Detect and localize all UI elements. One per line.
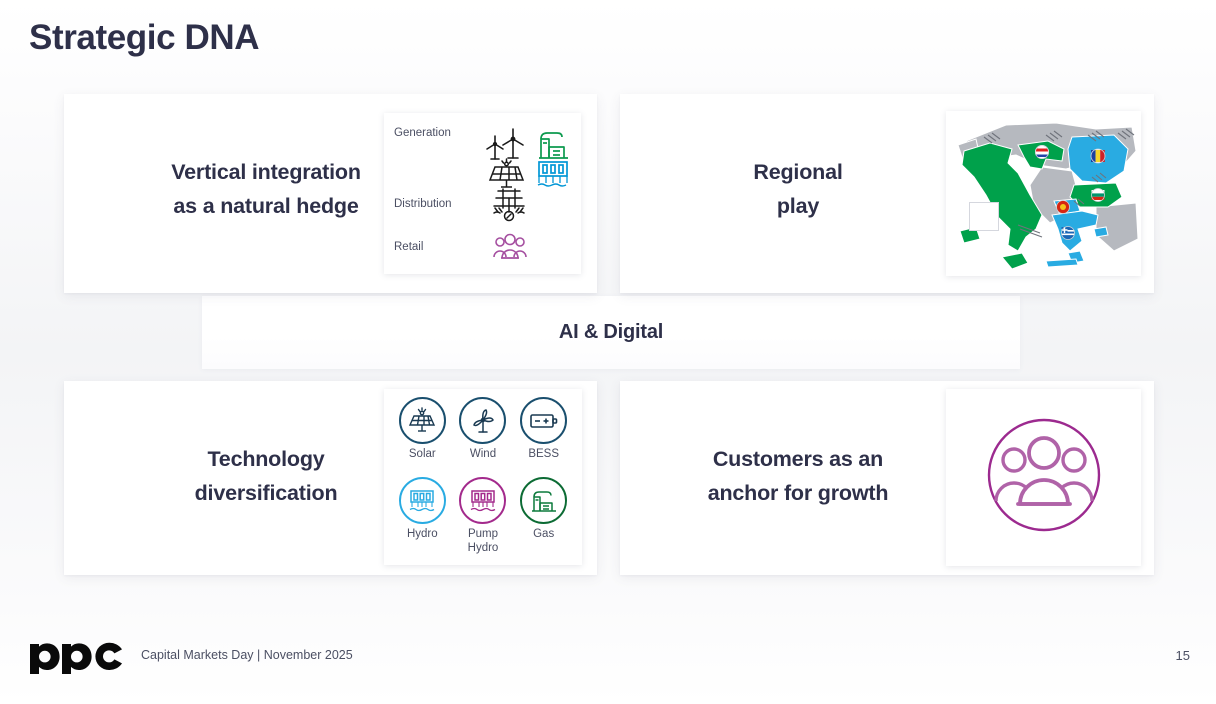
row-generation: Generation [394,127,572,139]
southeast-europe-map [946,111,1141,276]
ppc-logo [28,636,124,679]
row-retail-label: Retail [394,241,423,253]
customers-group-icon [492,233,528,266]
headline-line-2: anchor for growth [708,481,889,505]
vertical-integration-icon-panel: Generation [384,113,581,274]
tech-item-solar-label: Solar [409,447,436,461]
label-line-1: Pump [468,528,498,540]
pump-hydro-icon [459,477,506,524]
card-customers-anchor[interactable]: Customers as an anchor for growth [620,381,1154,575]
tech-item-pump-hydro-label: Pump Hydro [468,527,499,556]
hydro-dam-icon [399,477,446,524]
headline-line-1: Regional [753,160,842,184]
tech-item-pump-hydro[interactable]: Pump Hydro [453,477,514,557]
card-customers-anchor-headline: Customers as an anchor for growth [648,443,948,511]
tech-item-gas[interactable]: Gas [513,477,574,557]
battery-icon [520,397,567,444]
solar-panel-icon [399,397,446,444]
label-line-1: Solar [409,448,436,460]
ai-digital-label: AI & Digital [559,321,663,344]
hydro-dam-icon [536,159,570,194]
headline-line-2: diversification [195,481,338,505]
headline-line-1: Customers as an [713,447,883,471]
gas-plant-icon [520,477,567,524]
row-distribution-label: Distribution [394,198,452,210]
label-line-2: Hydro [468,542,499,554]
tech-item-wind-label: Wind [470,447,496,461]
substation-tower-icon [489,186,529,231]
technology-grid: Solar [392,397,574,557]
tech-item-bess-label: BESS [528,447,559,461]
slide-canvas: Strategic DNA AI & Digital Vertical inte… [0,0,1216,704]
page-number: 15 [1176,648,1190,663]
technology-icon-panel: Solar [384,389,582,565]
generation-icon-grid [482,127,578,193]
headline-line-1: Technology [207,447,324,471]
label-line-1: Wind [470,448,496,460]
row-generation-label: Generation [394,127,451,139]
label-line-1: Gas [533,528,554,540]
wind-turbine-icon [459,397,506,444]
tech-item-bess[interactable]: BESS [513,397,574,477]
tech-item-gas-label: Gas [533,527,554,541]
customers-group-circle-icon [983,414,1105,541]
card-technology-diversification[interactable]: Technology diversification [64,381,597,575]
tech-item-wind[interactable]: Wind [453,397,514,477]
tech-item-hydro-label: Hydro [407,527,438,541]
label-line-1: Hydro [407,528,438,540]
card-vertical-integration[interactable]: Vertical integration as a natural hedge … [64,94,597,293]
footer-text: Capital Markets Day | November 2025 [141,648,353,662]
ai-digital-band: AI & Digital [202,296,1020,369]
card-regional-play-headline: Regional play [648,156,948,224]
headline-line-2: play [777,194,819,218]
tech-item-solar[interactable]: Solar [392,397,453,477]
row-distribution: Distribution [394,198,572,210]
row-retail: Retail [394,241,572,253]
headline-line-2: as a natural hedge [173,194,358,218]
card-regional-play[interactable]: Regional play [620,94,1154,293]
headline-line-1: Vertical integration [171,160,361,184]
label-line-1: BESS [528,448,559,460]
customers-icon-panel [946,389,1141,566]
map-legend-placeholder [969,202,999,231]
page-title: Strategic DNA [29,18,259,58]
tech-item-hydro[interactable]: Hydro [392,477,453,557]
